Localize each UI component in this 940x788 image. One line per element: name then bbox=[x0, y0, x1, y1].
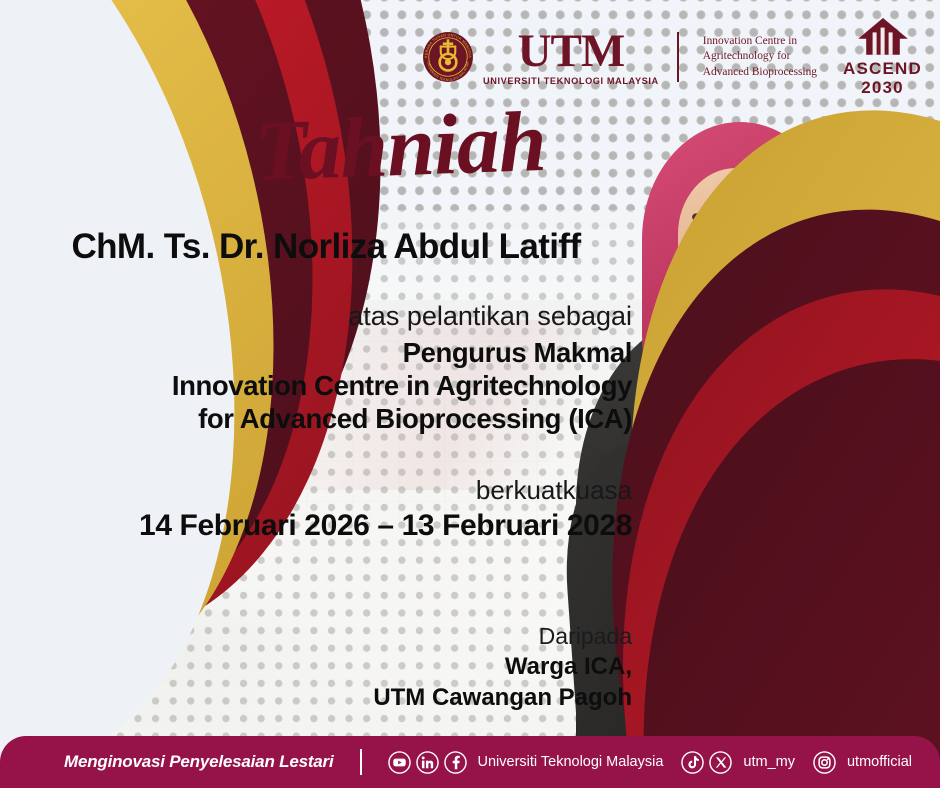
utm-wordmark: UTM UNIVERSITI TEKNOLOGI MALAYSIA bbox=[483, 28, 659, 86]
position-line-3: for Advanced Bioprocessing (ICA) bbox=[20, 402, 632, 435]
appointment-details: ChM. Ts. Dr. Norliza Abdul Latiff atas p… bbox=[20, 228, 632, 544]
ica-name-block: Innovation Centre in Agritechnology for … bbox=[703, 34, 817, 79]
ascend-2030-logo: ASCEND 2030 bbox=[843, 18, 922, 96]
ica-line-1: Innovation Centre in bbox=[703, 34, 817, 49]
sender-block: Daripada Warga ICA, UTM Cawangan Pagoh bbox=[20, 622, 632, 713]
utm-logo-lockup: KERANA TUHAN UNTUK MANUSIA UNIVERSITI TE… bbox=[422, 28, 659, 86]
utm-subtitle-text: UNIVERSITI TEKNOLOGI MALAYSIA bbox=[483, 77, 659, 86]
appointment-intro: atas pelantikan sebagai bbox=[20, 301, 632, 332]
honoree-name: ChM. Ts. Dr. Norliza Abdul Latiff bbox=[20, 228, 632, 267]
sender-label: Daripada bbox=[20, 622, 632, 651]
position-line-1: Pengurus Makmal bbox=[20, 336, 632, 369]
social-group-utm: Universiti Teknologi Malaysia bbox=[388, 751, 664, 774]
tiktok-icon[interactable] bbox=[681, 751, 704, 774]
footer-bar: Menginovasi Penyelesaian Lestari Univers… bbox=[0, 736, 940, 788]
social-group-utmofficial: utmofficial bbox=[813, 751, 912, 774]
utm-wordmark-text: UTM bbox=[518, 28, 625, 75]
ascend-arrow-icon bbox=[855, 18, 911, 58]
x-icon[interactable] bbox=[709, 751, 732, 774]
position-line-2: Innovation Centre in Agritechnology bbox=[20, 369, 632, 402]
ascend-label: ASCEND bbox=[843, 60, 922, 77]
utm-crest-icon: KERANA TUHAN UNTUK MANUSIA UNIVERSITI TE… bbox=[422, 31, 474, 83]
footer-tagline: Menginovasi Penyelesaian Lestari bbox=[64, 752, 334, 772]
social-handle-utm: Universiti Teknologi Malaysia bbox=[478, 754, 664, 770]
social-handle-utmofficial: utmofficial bbox=[847, 754, 912, 770]
social-group-utm-my: utm_my bbox=[681, 751, 795, 774]
instagram-icon[interactable] bbox=[813, 751, 836, 774]
ica-line-2: Agritechnology for bbox=[703, 49, 817, 64]
header-divider bbox=[677, 32, 679, 82]
youtube-icon[interactable] bbox=[388, 751, 411, 774]
ascend-year: 2030 bbox=[861, 79, 904, 96]
effective-label: berkuatkuasa bbox=[20, 475, 632, 506]
sender-line-1: Warga ICA, bbox=[20, 651, 632, 682]
header-logo-bar: KERANA TUHAN UNTUK MANUSIA UNIVERSITI TE… bbox=[422, 18, 922, 96]
facebook-icon[interactable] bbox=[444, 751, 467, 774]
ica-line-3: Advanced Bioprocessing bbox=[703, 65, 817, 80]
congratulations-poster: KERANA TUHAN UNTUK MANUSIA UNIVERSITI TE… bbox=[0, 0, 940, 788]
effective-period: 14 Februari 2026 – 13 Februari 2028 bbox=[20, 508, 632, 544]
social-handle-utm-my: utm_my bbox=[743, 754, 795, 770]
sender-line-2: UTM Cawangan Pagoh bbox=[20, 682, 632, 713]
footer-divider bbox=[360, 749, 362, 775]
linkedin-icon[interactable] bbox=[416, 751, 439, 774]
